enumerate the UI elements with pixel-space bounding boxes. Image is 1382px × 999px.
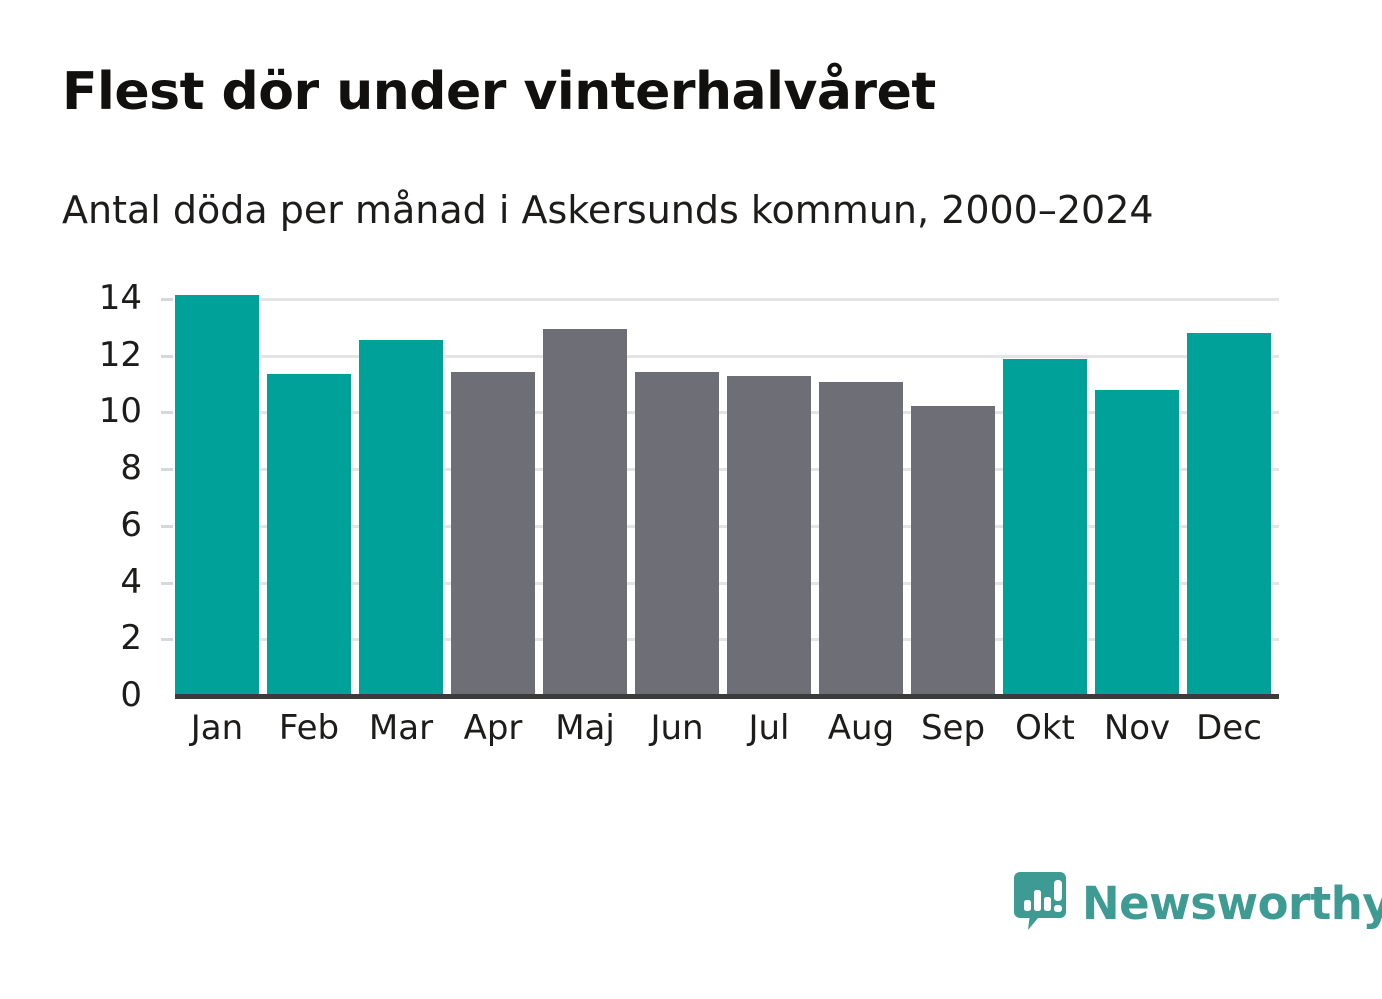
y-tick-mark bbox=[161, 468, 173, 471]
y-axis-label: 4 bbox=[52, 565, 142, 599]
bar-feb[interactable] bbox=[267, 374, 351, 695]
y-tick-mark bbox=[161, 298, 173, 301]
y-axis-label: 8 bbox=[52, 451, 142, 485]
x-axis-label-sep: Sep bbox=[911, 708, 995, 749]
x-axis-label-nov: Nov bbox=[1095, 708, 1179, 749]
y-tick-mark bbox=[161, 355, 173, 358]
x-axis-label-dec: Dec bbox=[1187, 708, 1271, 749]
y-axis-label: 10 bbox=[52, 394, 142, 428]
y-tick-mark bbox=[161, 411, 173, 414]
bar-jan[interactable] bbox=[175, 295, 259, 695]
bar-dec[interactable] bbox=[1187, 333, 1271, 695]
y-tick-mark bbox=[161, 525, 173, 528]
page-title: Flest dör under vinterhalvåret bbox=[62, 62, 936, 122]
x-axis-line bbox=[175, 694, 1279, 699]
y-axis-label: 14 bbox=[52, 281, 142, 315]
x-axis-label-jun: Jun bbox=[635, 708, 719, 749]
bar-mar[interactable] bbox=[359, 340, 443, 695]
chart-subtitle: Antal döda per månad i Askersunds kommun… bbox=[62, 188, 1154, 232]
bar-maj[interactable] bbox=[543, 329, 627, 695]
x-axis-label-aug: Aug bbox=[819, 708, 903, 749]
newsworthy-bubble-bar-chart-icon bbox=[1012, 870, 1068, 936]
x-axis-label-jan: Jan bbox=[175, 708, 259, 749]
gridline bbox=[175, 355, 1279, 358]
y-axis-label: 12 bbox=[52, 338, 142, 372]
bar-okt[interactable] bbox=[1003, 359, 1087, 695]
bar-nov[interactable] bbox=[1095, 390, 1179, 695]
y-axis-label: 2 bbox=[52, 621, 142, 655]
plot-area bbox=[175, 295, 1279, 695]
logo-wordmark: Newsworthy bbox=[1082, 877, 1382, 930]
x-axis-label-feb: Feb bbox=[267, 708, 351, 749]
y-tick-mark bbox=[161, 638, 173, 641]
x-axis-label-jul: Jul bbox=[727, 708, 811, 749]
x-axis-label-mar: Mar bbox=[359, 708, 443, 749]
x-axis-label-maj: Maj bbox=[543, 708, 627, 749]
bar-apr[interactable] bbox=[451, 372, 535, 695]
x-axis-label-okt: Okt bbox=[1003, 708, 1087, 749]
x-axis-label-apr: Apr bbox=[451, 708, 535, 749]
y-axis-label: 0 bbox=[52, 678, 142, 712]
bar-sep[interactable] bbox=[911, 406, 995, 695]
bar-jul[interactable] bbox=[727, 376, 811, 695]
chart-page: Flest dör under vinterhalvåret Antal död… bbox=[0, 0, 1382, 999]
y-axis-label: 6 bbox=[52, 508, 142, 542]
bar-aug[interactable] bbox=[819, 382, 903, 695]
gridline bbox=[175, 298, 1279, 301]
y-tick-mark bbox=[161, 582, 173, 585]
newsworthy-logo[interactable]: Newsworthy bbox=[1012, 870, 1382, 936]
bar-jun[interactable] bbox=[635, 372, 719, 695]
